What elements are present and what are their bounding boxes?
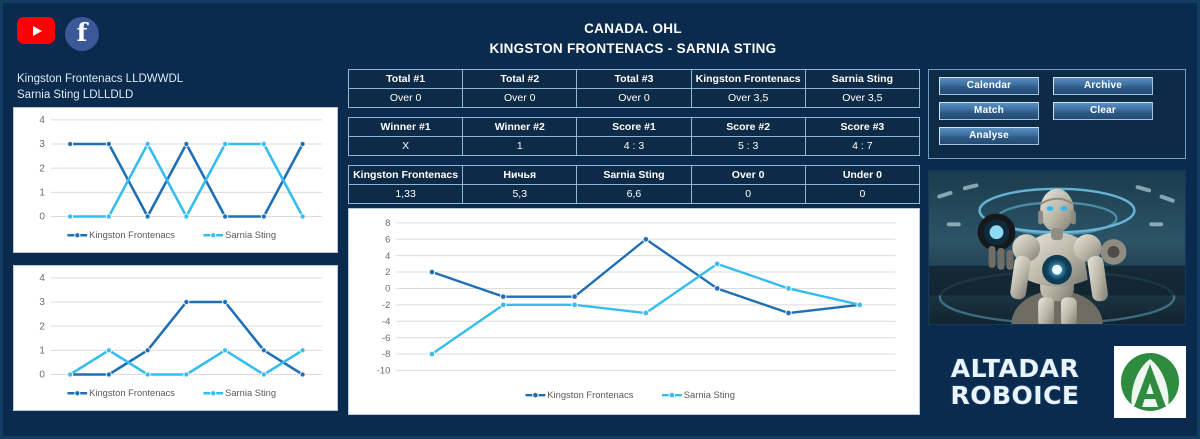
table-header-cell: Under 0 [805,166,919,185]
data-point [714,261,720,267]
archive-button[interactable]: Archive [1053,77,1153,95]
facebook-icon[interactable]: f [65,17,99,51]
data-point [145,141,150,146]
data-point [223,214,228,219]
table-header-cell: Total #2 [463,70,577,89]
data-point [68,141,73,146]
data-point [261,214,266,219]
page-title: CANADA. OHL KINGSTON FRONTENACS - SARNIA… [363,19,903,59]
data-point [106,372,111,377]
table-cell: 1,33 [349,185,463,204]
table-header-cell: Over 0 [691,166,805,185]
table-header-cell: Winner #1 [349,118,463,137]
analyse-button[interactable]: Analyse [939,127,1039,145]
table-header-cell: Winner #2 [463,118,577,137]
table-row: Over 0Over 0Over 0Over 3,5Over 3,5 [349,89,920,108]
data-point [68,214,73,219]
y-axis-tick-label: -8 [382,348,390,359]
youtube-icon[interactable] [17,17,55,44]
data-point [643,310,649,316]
table-row: X14 : 35 : 34 : 7 [349,137,920,156]
data-point [184,141,189,146]
legend-marker [211,233,216,238]
table-cell: X [349,137,463,156]
table-cell: Over 0 [577,89,691,108]
y-axis-tick-label: -6 [382,332,390,343]
series-line [70,144,302,216]
table-header-cell: Kingston Frontenacs [349,166,463,185]
table-cell: 4 : 7 [805,137,919,156]
data-point [714,286,720,292]
data-point [786,286,792,292]
data-point [184,372,189,377]
data-point [300,214,305,219]
league-name: CANADA. OHL [363,19,903,39]
data-point [300,372,305,377]
brand-logo-mark [1114,346,1186,418]
series-line [70,302,302,374]
legend-label: Kingston Frontenacs [89,388,175,398]
data-point [501,294,507,300]
y-axis-tick-label: 8 [385,217,390,228]
data-point [223,348,228,353]
totals-table: Total #1Total #2Total #3Kingston Fronten… [348,69,920,108]
data-point [106,141,111,146]
robot-arena-image [928,170,1186,325]
button-row-2: Match Clear [939,102,1175,120]
data-point [184,299,189,304]
legend-marker [211,391,216,396]
table-cell: 6,6 [577,185,691,204]
button-row-1: Calendar Archive [939,77,1175,95]
data-point [261,372,266,377]
data-point [145,372,150,377]
table-header-row: Total #1Total #2Total #3Kingston Fronten… [349,70,920,89]
home-streak: Kingston Frontenacs LLDWWDL [17,71,183,87]
table-header-cell: Kingston Frontenacs [691,70,805,89]
y-axis-tick-label: 1 [39,345,44,356]
chart-goals-conceded: 01234Kingston FrontenacsSarnia Sting [13,265,338,411]
data-point [261,348,266,353]
table-cell: 1 [463,137,577,156]
table-header-cell: Sarnia Sting [805,70,919,89]
calendar-button[interactable]: Calendar [939,77,1039,95]
data-point [300,348,305,353]
data-point [68,372,73,377]
legend-marker [533,392,539,398]
legend-label: Kingston Frontenacs [89,230,175,240]
match-name: KINGSTON FRONTENACS - SARNIA STING [363,39,903,59]
chart-goals-scored: 01234Kingston FrontenacsSarnia Sting [13,107,338,253]
data-point [429,351,435,357]
y-axis-tick-label: 4 [385,250,390,261]
table-row: 1,335,36,600 [349,185,920,204]
y-axis-tick-label: 1 [39,187,44,198]
data-point [145,214,150,219]
brand-line-2: ROBOICE [928,382,1102,409]
data-point [223,141,228,146]
table-cell: 5,3 [463,185,577,204]
data-point [786,310,792,316]
brand-line-1: ALTADAR [928,355,1102,382]
table-header-cell: Sarnia Sting [577,166,691,185]
y-axis-tick-label: 2 [385,266,390,277]
team-streaks: Kingston Frontenacs LLDWWDL Sarnia Sting… [17,71,183,103]
table-header-row: Kingston FrontenacsНичьяSarnia StingOver… [349,166,920,185]
data-point [643,236,649,242]
legend-marker [75,391,80,396]
brand-wordmark: ALTADAR ROBOICE [928,355,1102,409]
table-cell: Over 3,5 [691,89,805,108]
y-axis-tick-label: 2 [39,321,44,332]
chart-goal-difference: 86420-2-4-6-8-10Kingston FrontenacsSarni… [348,208,920,415]
y-axis-tick-label: 2 [39,163,44,174]
y-axis-tick-label: 4 [39,115,45,126]
table-cell: Over 0 [463,89,577,108]
table-cell: 0 [805,185,919,204]
social-links: f [17,17,99,51]
app-window: f Kingston Frontenacs LLDWWDL Sarnia Sti… [0,0,1200,439]
legend-label: Sarnia Sting [684,389,735,400]
y-axis-tick-label: 0 [385,283,390,294]
data-point [572,302,578,308]
legend-marker [75,233,80,238]
table-header-row: Winner #1Winner #2Score #1Score #2Score … [349,118,920,137]
y-axis-tick-label: 0 [39,212,45,223]
y-axis-tick-label: -10 [377,365,391,376]
series-line [432,264,860,354]
y-axis-tick-label: 3 [39,297,45,308]
table-cell: 4 : 3 [577,137,691,156]
table-cell: 0 [691,185,805,204]
data-point [223,299,228,304]
legend-label: Sarnia Sting [225,230,276,240]
y-axis-tick-label: 6 [385,233,390,244]
series-line [70,144,302,216]
stats-tables: Total #1Total #2Total #3Kingston Fronten… [348,69,920,213]
winners-scores-table: Winner #1Winner #2Score #1Score #2Score … [348,117,920,156]
y-axis-tick-label: 3 [39,139,45,150]
data-point [106,348,111,353]
data-point [300,141,305,146]
table-header-cell: Total #3 [577,70,691,89]
data-point [261,141,266,146]
odds-table: Kingston FrontenacsНичьяSarnia StingOver… [348,165,920,204]
action-button-panel: Calendar Archive Match Clear Analyse [928,69,1186,159]
table-cell: Over 3,5 [805,89,919,108]
y-axis-tick-label: -4 [382,315,390,326]
data-point [572,294,578,300]
button-row-3: Analyse [939,127,1175,145]
table-header-cell: Ничья [463,166,577,185]
y-axis-tick-label: -2 [382,299,390,310]
y-axis-tick-label: 0 [39,370,45,381]
table-header-cell: Total #1 [349,70,463,89]
data-point [106,214,111,219]
data-point [857,302,863,308]
data-point [184,214,189,219]
table-cell: Over 0 [349,89,463,108]
table-header-cell: Score #3 [805,118,919,137]
away-streak: Sarnia Sting LDLLDLD [17,87,183,103]
series-line [432,239,860,313]
y-axis-tick-label: 4 [39,273,45,284]
data-point [145,348,150,353]
clear-button[interactable]: Clear [1053,102,1153,120]
table-cell: 5 : 3 [691,137,805,156]
legend-label: Kingston Frontenacs [547,389,633,400]
legend-label: Sarnia Sting [225,388,276,398]
data-point [429,269,435,275]
match-button[interactable]: Match [939,102,1039,120]
brand-block: ALTADAR ROBOICE [928,336,1186,428]
table-header-cell: Score #1 [577,118,691,137]
data-point [501,302,507,308]
table-header-cell: Score #2 [691,118,805,137]
legend-marker [669,392,675,398]
